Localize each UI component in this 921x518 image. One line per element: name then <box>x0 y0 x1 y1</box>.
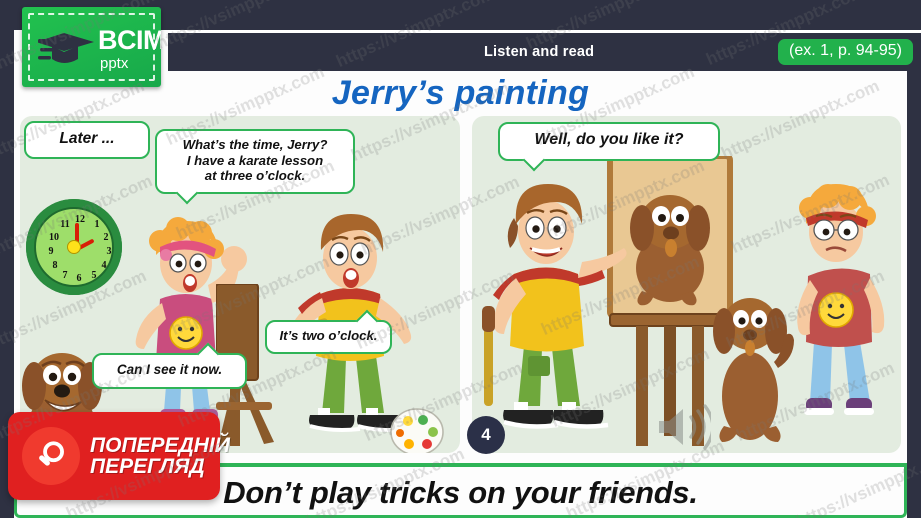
bubble-tail <box>176 181 199 204</box>
preview-watermark-text: ПОПЕРЕДНІЙ ПЕРЕГЛЯД <box>90 435 230 478</box>
bubble-text: Later ... <box>59 130 114 147</box>
speaker-audio-icon[interactable] <box>655 404 711 450</box>
comic-panel-right: Well, do you like it? <box>472 116 901 453</box>
speech-bubble-two-oclock: It’s two o’clock. <box>265 320 392 354</box>
speech-bubble-can-i-see: Can I see it now. <box>92 353 247 389</box>
clock-face: 12 1 2 3 4 5 6 7 8 9 10 11 <box>34 207 114 287</box>
bubble-text: Well, do you like it? <box>534 131 683 148</box>
clock-number: 2 <box>100 232 112 244</box>
preview-line-1: ПОПЕРЕДНІЙ <box>90 435 230 456</box>
graduation-cap-icon <box>38 29 98 71</box>
bubble-text: What’s the time, Jerry? I have a karate … <box>183 137 328 183</box>
header-title: Listen and read <box>484 33 594 71</box>
clock-number: 10 <box>48 232 60 244</box>
clock-number: 8 <box>49 260 61 272</box>
comic-panel-left: 12 1 2 3 4 5 6 7 8 9 10 11 <box>20 116 460 453</box>
paint-palette <box>388 406 446 453</box>
page-number-badge: 4 <box>467 416 505 454</box>
bubble-tail <box>523 149 546 172</box>
clock-number: 3 <box>103 246 115 258</box>
exercise-reference-badge: (ex. 1, p. 94-95) <box>778 39 913 65</box>
slide-root: Listen and read (ex. 1, p. 94-95) BCIM p… <box>0 0 921 518</box>
speech-bubble-do-you-like-it: Well, do you like it? <box>498 122 720 161</box>
boy-character-right <box>480 178 630 446</box>
speech-bubble-later: Later ... <box>24 121 150 159</box>
clock-number: 9 <box>45 246 57 258</box>
speech-bubble-what-time: What’s the time, Jerry? I have a karate … <box>155 129 355 194</box>
clock-number: 1 <box>91 219 103 231</box>
clock-center-pin <box>67 240 81 254</box>
girl-character-right <box>772 174 901 446</box>
bubble-text: It’s two o’clock. <box>280 328 378 343</box>
clock-number: 11 <box>59 219 71 231</box>
preview-watermark-badge: ПОПЕРЕДНІЙ ПЕРЕГЛЯД <box>8 412 220 500</box>
page-title: Jerry’s painting <box>0 74 921 113</box>
magnifier-icon <box>34 439 68 473</box>
clock-number: 6 <box>73 273 85 285</box>
magnifier-icon-circle <box>22 427 80 485</box>
preview-line-2: ПЕРЕГЛЯД <box>90 456 230 477</box>
wall-clock: 12 1 2 3 4 5 6 7 8 9 10 11 <box>26 199 122 295</box>
header-band: Listen and read (ex. 1, p. 94-95) <box>168 33 921 71</box>
logo-brand-text: BCIM <box>98 27 161 54</box>
comic-panel-row: 12 1 2 3 4 5 6 7 8 9 10 11 <box>20 116 901 453</box>
logo-sub-text: pptx <box>100 56 161 71</box>
clock-number: 5 <box>88 270 100 282</box>
logo-wordmark: BCIM pptx <box>98 27 161 71</box>
